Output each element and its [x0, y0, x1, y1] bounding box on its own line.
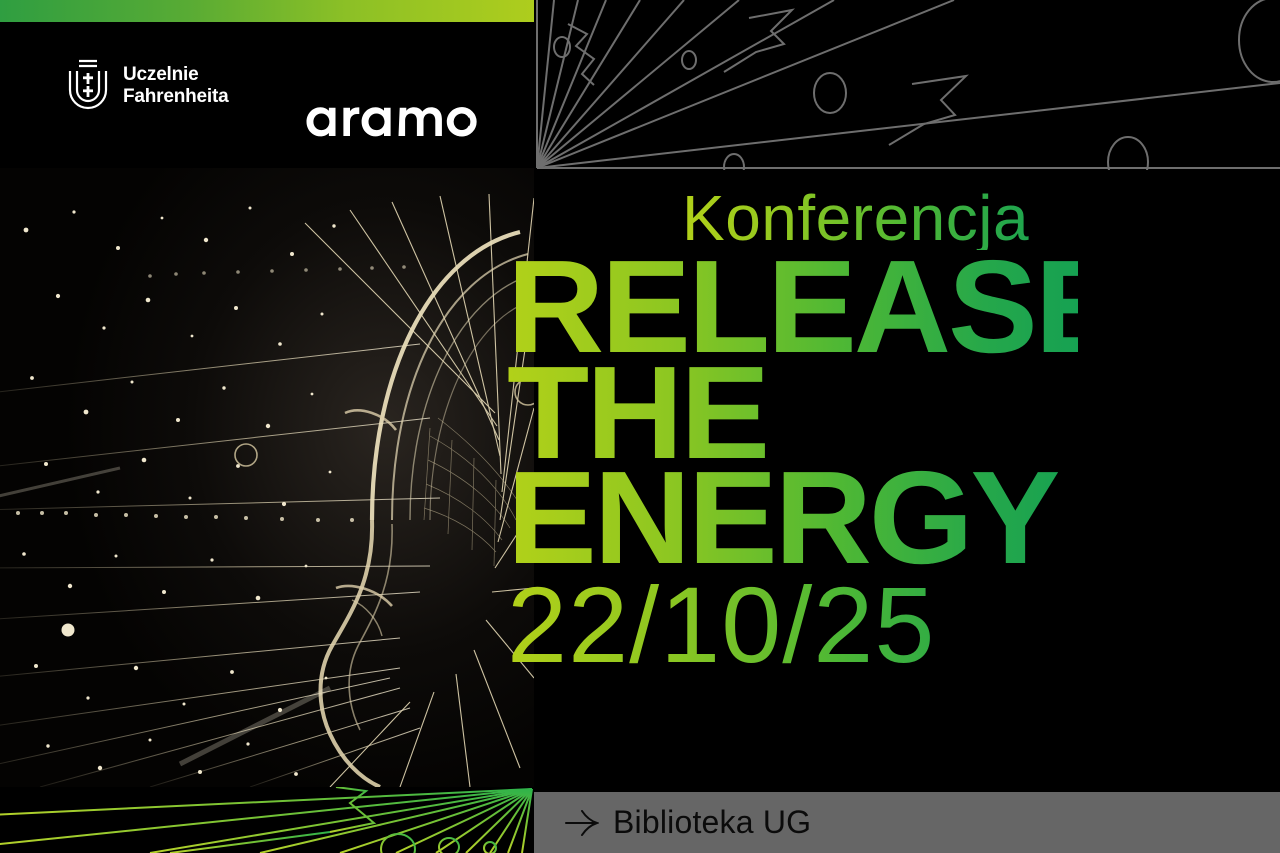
headline-line-energy: ENERGY	[507, 465, 1078, 571]
decoration-top-rays	[534, 0, 1280, 170]
top-gradient-bar	[0, 0, 534, 22]
venue-label: Biblioteka UG	[613, 804, 811, 841]
logo-uczelnie-fahrenheita-label: Uczelnie Fahrenheita	[123, 64, 229, 109]
conference-poster: Uczelnie Fahrenheita	[0, 0, 1280, 853]
green-ray-lines-graphic	[0, 787, 534, 853]
fahrenheit-shield-icon	[66, 58, 110, 114]
logo-aramco	[303, 96, 477, 138]
ai-head-profile-artwork	[0, 168, 534, 787]
headline-block: Konferencja RELEASE THE ENERGY 22/10/25	[507, 186, 1067, 674]
ray-lines-graphic	[534, 0, 1280, 170]
decoration-bottom-rays	[0, 787, 534, 853]
logo-strip: Uczelnie Fahrenheita	[0, 22, 534, 168]
logo-uczelnie-fahrenheita: Uczelnie Fahrenheita	[66, 58, 229, 114]
artwork-graphic	[0, 168, 534, 787]
arrow-right-icon	[565, 810, 599, 836]
aramco-wordmark-icon	[303, 96, 477, 138]
footer-bar: Biblioteka UG	[534, 792, 1280, 853]
venue-block: Biblioteka UG	[565, 804, 811, 841]
